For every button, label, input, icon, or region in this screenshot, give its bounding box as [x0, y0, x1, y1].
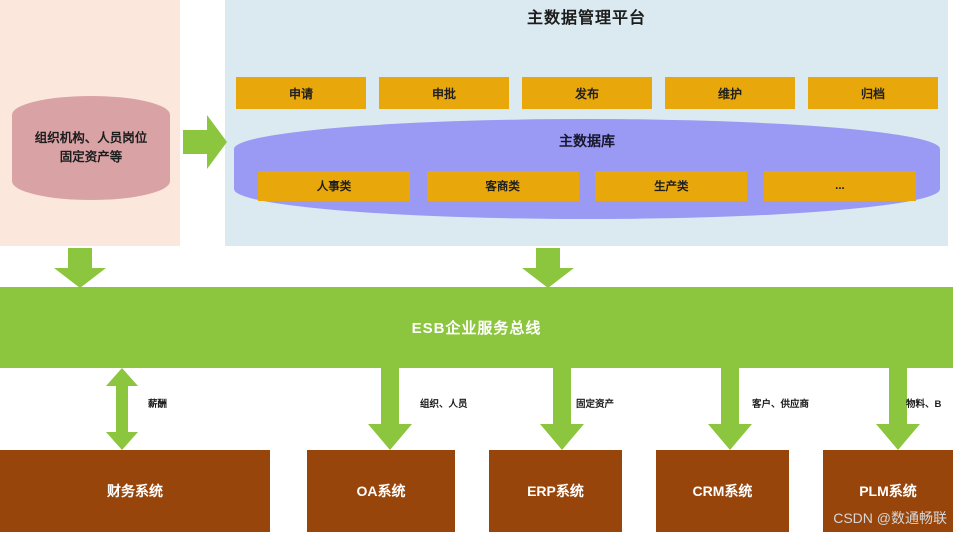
process-button-approve[interactable]: 申批: [379, 77, 509, 109]
system-box-crm[interactable]: CRM系统: [656, 450, 789, 532]
arrow-right-icon: [183, 112, 227, 172]
esb-bus-bar: ESB企业服务总线: [0, 287, 953, 368]
db-category-customer-supplier[interactable]: 客商类: [427, 171, 579, 201]
flow-label-erp: 固定资产: [576, 396, 614, 410]
db-category-production[interactable]: 生产类: [595, 171, 747, 201]
db-category-more[interactable]: ...: [764, 171, 916, 201]
source-data-cylinder: 组织机构、人员岗位 固定资产等: [12, 96, 170, 200]
system-box-plm[interactable]: PLM系统: [823, 450, 953, 532]
arrow-down-oa-icon: [368, 368, 412, 450]
arrow-bidirectional-finance-icon: [100, 368, 144, 450]
source-data-line-2: 固定资产等: [29, 148, 154, 167]
process-button-maintain[interactable]: 维护: [665, 77, 795, 109]
esb-bus-label: ESB企业服务总线: [412, 317, 542, 338]
system-box-erp[interactable]: ERP系统: [489, 450, 622, 532]
process-button-publish[interactable]: 发布: [522, 77, 652, 109]
platform-title: 主数据管理平台: [225, 4, 948, 28]
source-data-line-1: 组织机构、人员岗位: [29, 129, 154, 148]
system-box-finance[interactable]: 财务系统: [0, 450, 270, 532]
arrow-down-crm-icon: [708, 368, 752, 450]
db-category-hr[interactable]: 人事类: [258, 171, 410, 201]
architecture-diagram: 主数据管理平台 组织机构、人员岗位 固定资产等 申请 申批 发布 维护 归档 主…: [0, 0, 953, 536]
process-button-apply[interactable]: 申请: [236, 77, 366, 109]
arrow-down-platform-to-esb-icon: [522, 248, 574, 288]
process-button-row: 申请 申批 发布 维护 归档: [236, 77, 938, 109]
flow-label-oa: 组织、人员: [420, 396, 468, 410]
master-database-ellipse: 主数据库 人事类 客商类 生产类 ...: [234, 119, 940, 219]
flow-label-plm: 物料、B: [906, 396, 941, 410]
master-database-title: 主数据库: [234, 131, 940, 151]
master-database-category-row: 人事类 客商类 生产类 ...: [258, 171, 916, 201]
flow-label-crm: 客户、供应商: [752, 396, 809, 410]
process-button-archive[interactable]: 归档: [808, 77, 938, 109]
flow-label-finance: 薪酬: [148, 396, 167, 410]
system-box-oa[interactable]: OA系统: [307, 450, 455, 532]
arrow-down-source-to-esb-icon: [54, 248, 106, 288]
